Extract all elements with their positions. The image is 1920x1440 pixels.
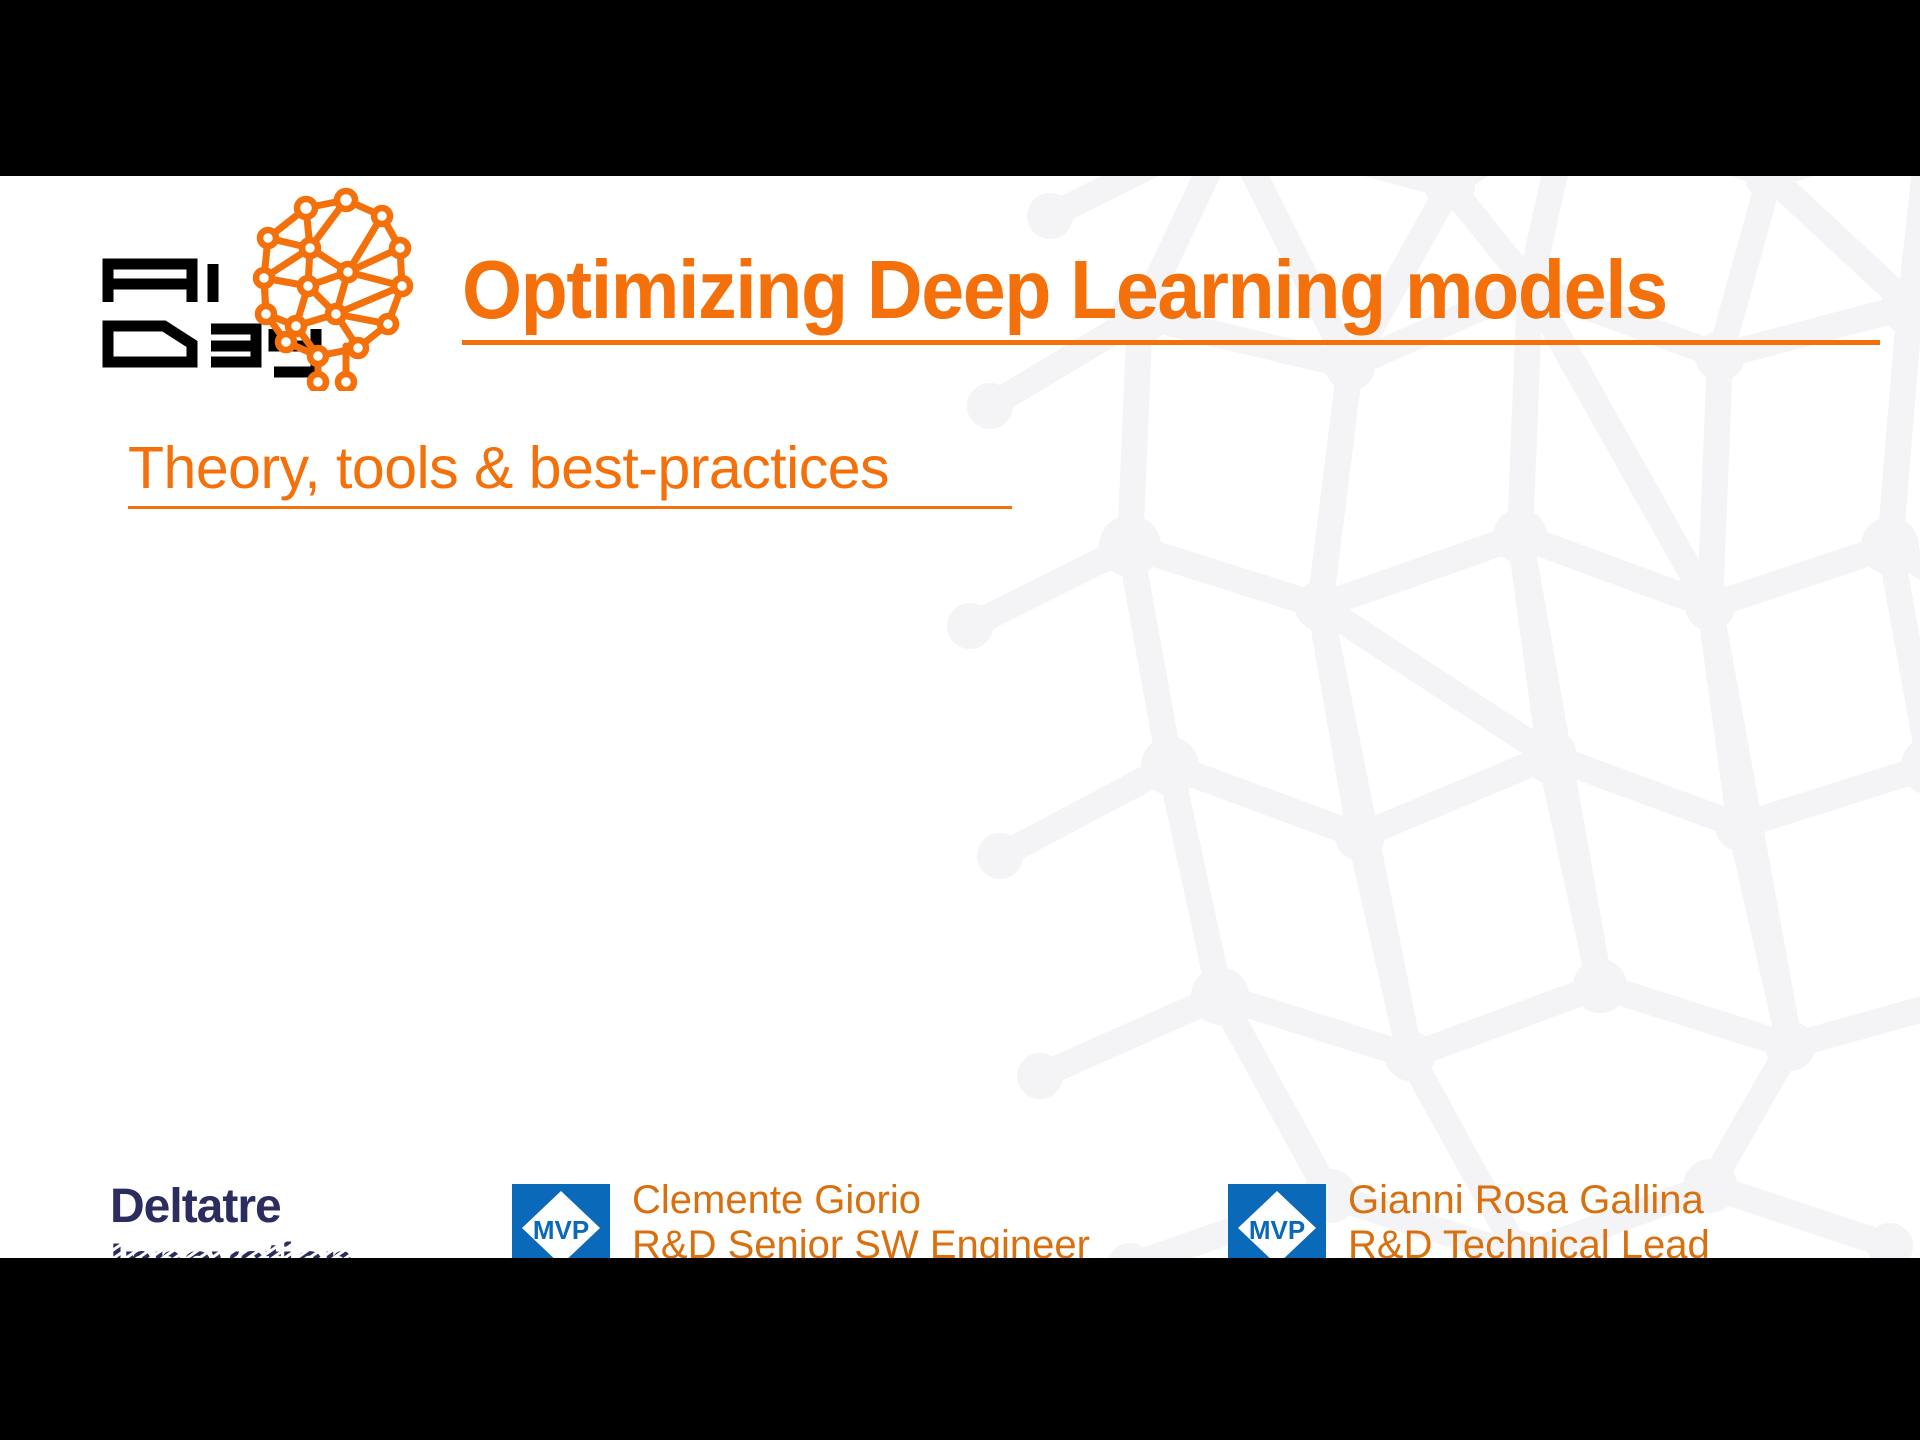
deltatre-innovation-lab-logo: Deltatre Innovation Lab [110, 1182, 460, 1258]
speaker-text: Clemente Giorio R&D Senior SW Engineer d… [632, 1174, 1090, 1258]
deltatre-lab-line1: Deltatre [110, 1182, 281, 1233]
microsoft-mvp-badge-icon: MVP Microsoft® Most Valuable Professiona… [512, 1184, 610, 1258]
page-title: Optimizing Deep Learning models [462, 248, 1783, 331]
subtitle-underline-rule [128, 506, 1012, 509]
speaker-block: MVP Microsoft® Most Valuable Professiona… [1228, 1174, 1710, 1258]
mvp-diamond-label: MVP [1249, 1215, 1305, 1245]
page-subtitle: Theory, tools & best-practices [128, 438, 1012, 500]
presentation-slide: Optimizing Deep Learning models Theory, … [0, 0, 1920, 1440]
subtitle-block: Theory, tools & best-practices [128, 438, 1012, 509]
letterbox-bar-bottom [0, 1258, 1920, 1440]
title-underline-rule [462, 340, 1880, 345]
footer-row: Deltatre Innovation Lab MVP Microsoft® M… [0, 1166, 1920, 1258]
speaker-role: R&D Senior SW Engineer [632, 1223, 1090, 1258]
aiday-wordmark-ai [108, 264, 213, 302]
letterbox-bar-top [0, 0, 1920, 176]
slide-canvas: Optimizing Deep Learning models Theory, … [0, 176, 1920, 1258]
mvp-diamond-label: MVP [533, 1215, 589, 1245]
speaker-name: Clemente Giorio [632, 1178, 1090, 1223]
title-block: Optimizing Deep Learning models [462, 248, 1882, 345]
aiday-logo [96, 186, 416, 391]
speaker-text: Gianni Rosa Gallina R&D Technical Lead d… [1348, 1174, 1710, 1258]
microsoft-mvp-badge-icon: MVP Microsoft® Most Valuable Professiona… [1228, 1184, 1326, 1258]
speaker-block: MVP Microsoft® Most Valuable Professiona… [512, 1174, 1090, 1258]
speaker-role: R&D Technical Lead [1348, 1223, 1710, 1258]
deltatre-lab-line2: Innovation [110, 1233, 353, 1258]
brain-network-icon [264, 200, 402, 382]
speaker-name: Gianni Rosa Gallina [1348, 1178, 1710, 1223]
